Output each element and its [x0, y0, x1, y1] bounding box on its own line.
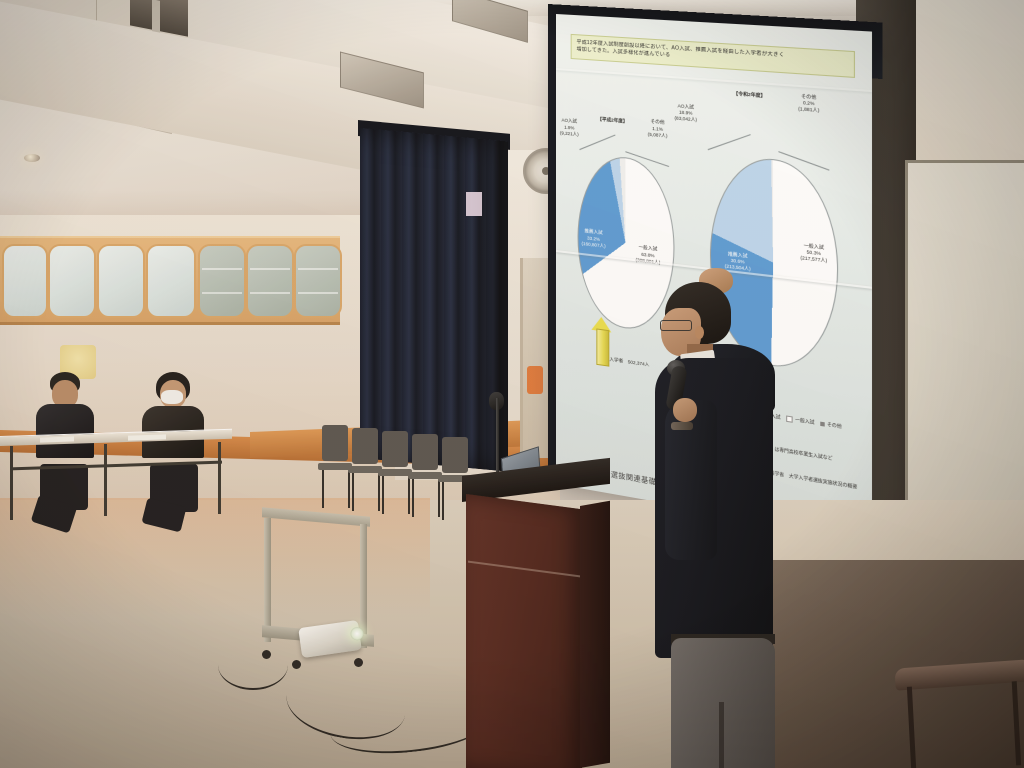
wristwatch [671, 422, 693, 430]
door-item [527, 366, 543, 394]
cabinet-shelf [298, 292, 338, 294]
leader-line [708, 134, 751, 150]
cart-post [264, 518, 271, 642]
cabinet-shelf [250, 292, 290, 294]
glasses-icon [660, 320, 692, 331]
seated-person-man [34, 372, 104, 532]
cart-caster [292, 660, 301, 669]
podium-front-panel [466, 494, 582, 768]
label-suisen-on-pie: 推薦入試 33.2% (160,807人) [581, 228, 605, 249]
cabinet-door-glass[interactable] [246, 244, 294, 318]
trouser-seam [719, 702, 724, 768]
cabinet-door-glass[interactable] [198, 244, 246, 318]
stage-curtain [360, 128, 508, 471]
cabinet-door[interactable] [146, 244, 196, 318]
legend-swatch [820, 422, 824, 427]
lecture-hall-photo: 平成12年度入試制度創設以降において、AO入試、推薦入試を経由した入学者が大きく… [0, 0, 1024, 768]
arrow-caption: 入学者 502,374人 [609, 357, 649, 369]
folding-chair[interactable] [378, 431, 412, 515]
ear [695, 326, 704, 339]
cabinet-shelf [298, 268, 338, 270]
label-other: その他 0.2% (1,881人) [798, 93, 819, 114]
wall-cabinets [0, 236, 340, 325]
folding-chair[interactable] [408, 434, 442, 518]
podium[interactable] [462, 476, 610, 768]
table-leg [104, 444, 107, 516]
hand [673, 398, 697, 422]
cabinet-door-glass[interactable] [294, 244, 342, 318]
cabinet-door[interactable] [48, 244, 96, 318]
chair-legs [907, 681, 1021, 768]
label-other: その他 1.1% (5,087人) [648, 119, 668, 140]
cabinet-shelf [250, 268, 290, 270]
power-cable [218, 640, 288, 690]
speaker-person [645, 282, 795, 768]
cabinet-shelf [202, 292, 242, 294]
folding-chair[interactable] [318, 425, 352, 509]
seated-person-woman [140, 372, 216, 532]
folding-chair[interactable] [348, 428, 382, 512]
cabinet-door[interactable] [2, 244, 48, 318]
label-ippan: 一般入試 50.3% (217,577人) [800, 242, 827, 265]
curtain-sign [466, 192, 482, 216]
label-ao: AO入試 1.9% (9,221人) [560, 118, 579, 138]
label-ao: AO入試 18.9% (83,042人) [674, 103, 697, 124]
table-leg [218, 442, 221, 514]
face-mask [161, 390, 183, 404]
legend-item: その他 [820, 421, 841, 430]
foreground-chair[interactable] [895, 640, 1024, 768]
ceiling-downlight [24, 154, 40, 162]
projector[interactable] [298, 620, 362, 658]
podium-side-panel [580, 501, 610, 768]
chart-year-left: 【平成2年度】 [597, 117, 627, 126]
cabinet-shelf [202, 268, 242, 270]
whiteboard [905, 160, 1024, 511]
table-leg [10, 446, 13, 520]
cart-caster [354, 658, 363, 667]
chart-year-right: 【令和2年度】 [733, 91, 765, 100]
leader-line [579, 135, 615, 151]
torso [36, 404, 94, 458]
cabinet-door[interactable] [97, 244, 145, 318]
